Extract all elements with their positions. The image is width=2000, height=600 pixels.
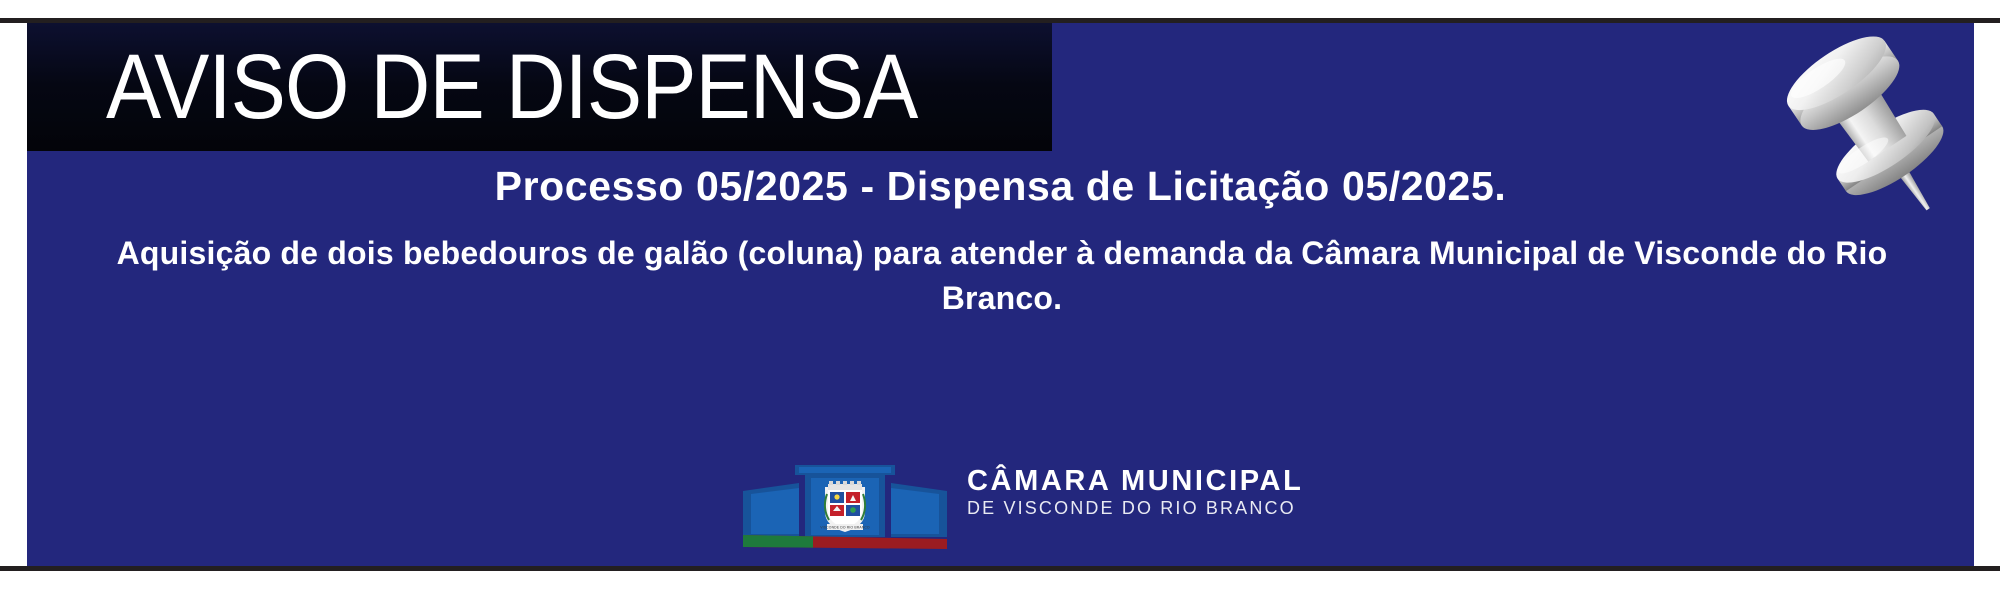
svg-text:VISCONDE DO RIO BRANCO: VISCONDE DO RIO BRANCO (820, 526, 870, 530)
pushpin-icon (1760, 23, 1972, 228)
poster-frame: AVISO DE DISPENSA Processo 05/2025 - Dis… (0, 0, 2000, 600)
camara-building-icon: VISCONDE DO RIO BRANCO (739, 451, 951, 551)
camara-logo-line-1: CÂMARA MUNICIPAL (967, 465, 1267, 497)
page-title: AVISO DE DISPENSA (106, 41, 917, 133)
poster-canvas: AVISO DE DISPENSA Processo 05/2025 - Dis… (27, 23, 1974, 566)
camara-logo-line-2: DE VISCONDE DO RIO BRANCO (967, 497, 1267, 519)
subtitle-text: Processo 05/2025 - Dispensa de Licitação… (495, 163, 1507, 210)
body-copy: Aquisição de dois bebedouros de galão (c… (87, 231, 1917, 321)
title-band: AVISO DE DISPENSA (27, 23, 1052, 151)
camara-logo: VISCONDE DO RIO BRANCO CÂMARA MUNICIPAL … (739, 451, 1269, 551)
subtitle: Processo 05/2025 - Dispensa de Licitação… (27, 163, 1974, 210)
camara-logo-text: CÂMARA MUNICIPAL DE VISCONDE DO RIO BRAN… (967, 465, 1267, 519)
bottom-rule (0, 566, 2000, 571)
